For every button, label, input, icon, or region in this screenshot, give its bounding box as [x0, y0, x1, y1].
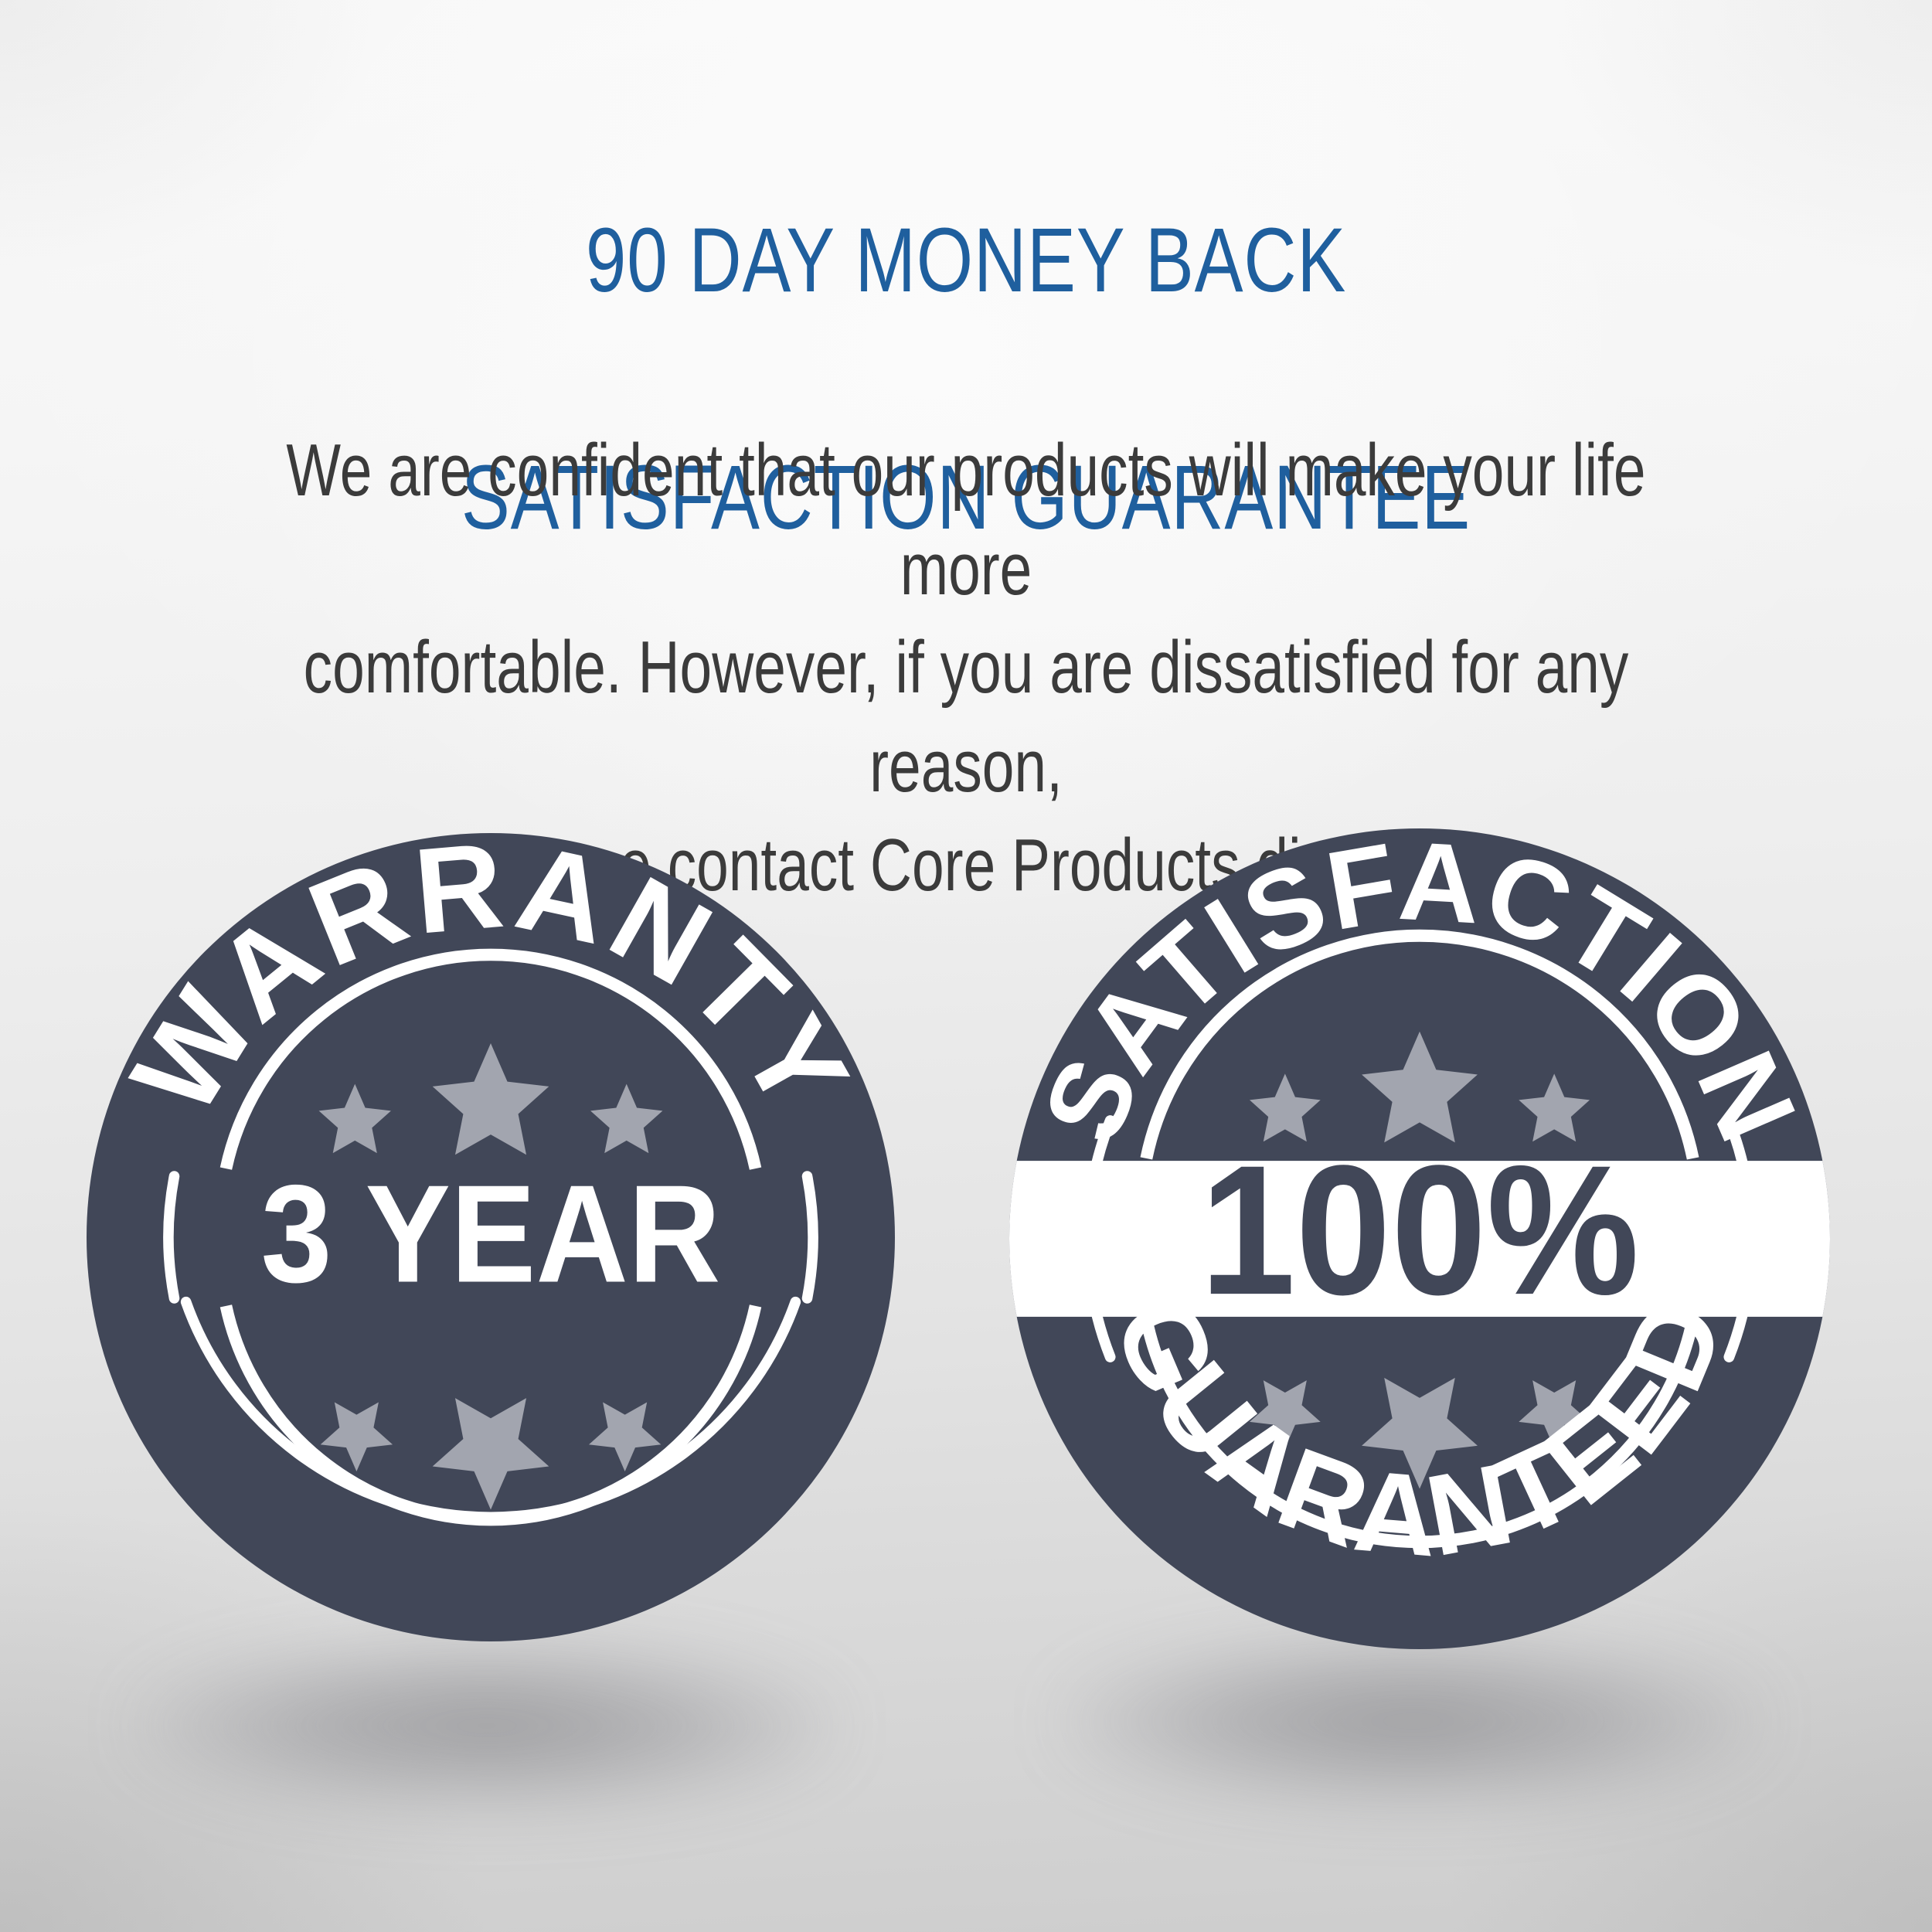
- guarantee-description-line-2: comfortable. However, if you are dissati…: [213, 618, 1719, 815]
- satisfaction-guaranteed-seal-icon: SATISFACTION GUARANTEED 100%: [1009, 828, 1830, 1649]
- guarantee-graphic-canvas: 90 DAY MONEY BACK SATISFACTION GUARANTEE…: [0, 0, 1932, 1932]
- satisfaction-badge-shadow: [1065, 1640, 1760, 1802]
- warranty-badge-shadow: [139, 1645, 835, 1807]
- warranty-seal-icon: WARRANTY 3 YEAR: [87, 833, 895, 1641]
- page-title-line-1: 90 DAY MONEY BACK: [193, 202, 1739, 320]
- guarantee-description-line-1: We are confident that our products will …: [213, 421, 1719, 618]
- satisfaction-center-text: 100%: [1200, 1127, 1639, 1333]
- warranty-center-text: 3 YEAR: [261, 1156, 721, 1311]
